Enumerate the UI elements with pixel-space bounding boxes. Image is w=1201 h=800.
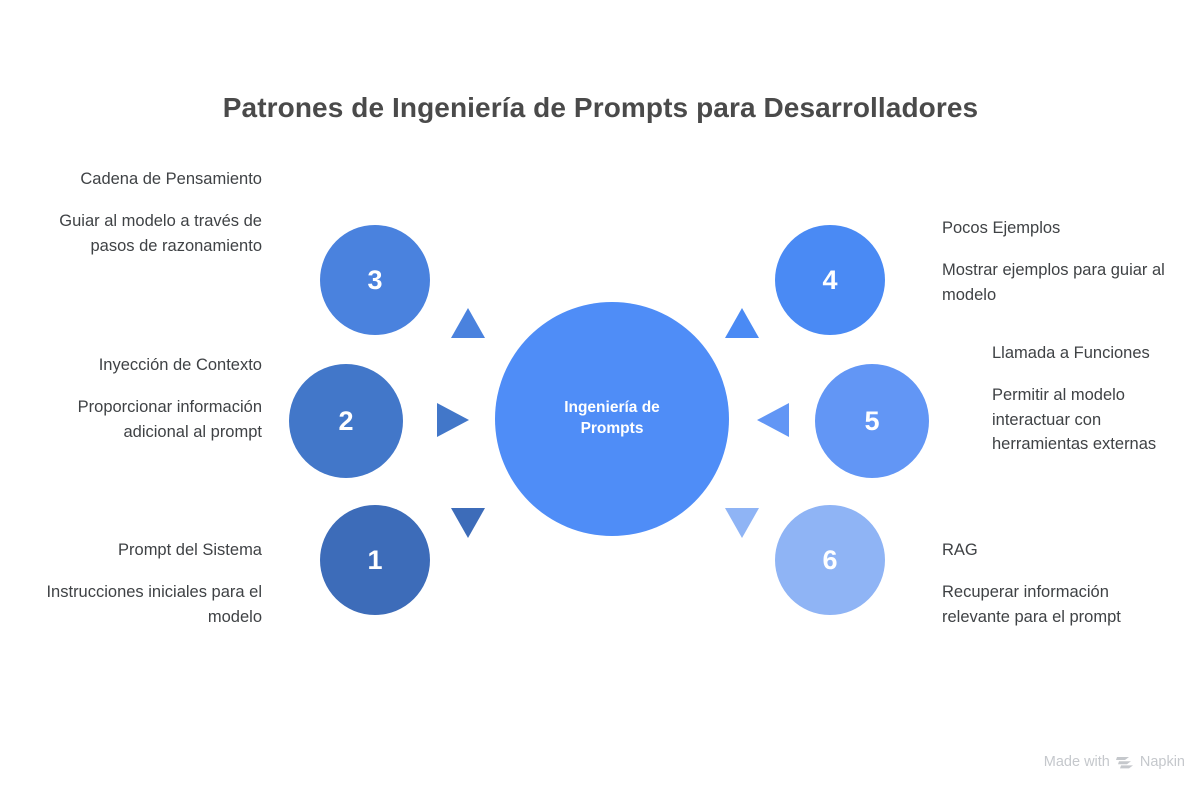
label-description: Instrucciones iniciales para el modelo <box>12 580 262 629</box>
node-number: 2 <box>338 408 353 435</box>
napkin-logo-icon <box>1116 754 1134 770</box>
label-group-llamada-a-funciones: Llamada a Funciones Permitir al modelo i… <box>992 341 1192 457</box>
node-circle-5[interactable]: 5 <box>815 364 929 478</box>
label-group-pocos-ejemplos: Pocos Ejemplos Mostrar ejemplos para gui… <box>942 216 1192 307</box>
center-label-line2: Prompts <box>581 420 644 437</box>
center-label-line1: Ingeniería de <box>564 399 660 416</box>
arrow-up-icon-node4 <box>725 308 759 338</box>
label-group-rag: RAG Recuperar información relevante para… <box>942 538 1152 629</box>
label-title: Prompt del Sistema <box>12 538 262 562</box>
arrow-down-icon-node6 <box>725 508 759 538</box>
node-circle-1[interactable]: 1 <box>320 505 430 615</box>
label-description: Recuperar información relevante para el … <box>942 580 1152 629</box>
node-number: 5 <box>864 408 879 435</box>
arrow-up-icon-node3 <box>451 308 485 338</box>
label-group-cadena-de-pensamiento: Cadena de Pensamiento Guiar al modelo a … <box>12 167 262 258</box>
label-description: Proporcionar información adicional al pr… <box>12 395 262 444</box>
label-description: Guiar al modelo a través de pasos de raz… <box>12 209 262 258</box>
node-number: 1 <box>367 547 382 574</box>
label-title: Llamada a Funciones <box>992 341 1192 365</box>
label-description: Mostrar ejemplos para guiar al modelo <box>942 258 1192 307</box>
page-title: Patrones de Ingeniería de Prompts para D… <box>0 92 1201 124</box>
node-circle-4[interactable]: 4 <box>775 225 885 335</box>
label-title: Pocos Ejemplos <box>942 216 1192 240</box>
node-number: 3 <box>367 267 382 294</box>
diagram-canvas: Patrones de Ingeniería de Prompts para D… <box>0 0 1201 800</box>
watermark-prefix: Made with <box>1044 754 1110 770</box>
node-number: 4 <box>822 267 837 294</box>
watermark-brand: Napkin <box>1140 754 1185 770</box>
arrow-left-icon-node5 <box>757 403 789 437</box>
label-description: Permitir al modelo interactuar con herra… <box>992 383 1192 456</box>
label-group-prompt-del-sistema: Prompt del Sistema Instrucciones inicial… <box>12 538 262 629</box>
arrow-down-icon-node1 <box>451 508 485 538</box>
label-title: Cadena de Pensamiento <box>12 167 262 191</box>
node-number: 6 <box>822 547 837 574</box>
node-circle-3[interactable]: 3 <box>320 225 430 335</box>
arrow-right-icon-node2 <box>437 403 469 437</box>
label-group-inyeccion-de-contexto: Inyección de Contexto Proporcionar infor… <box>12 353 262 444</box>
watermark: Made with Napkin <box>1044 754 1185 770</box>
label-title: RAG <box>942 538 1152 562</box>
label-title: Inyección de Contexto <box>12 353 262 377</box>
center-circle-ingenieria-de-prompts[interactable]: Ingeniería de Prompts <box>495 302 729 536</box>
node-circle-2[interactable]: 2 <box>289 364 403 478</box>
node-circle-6[interactable]: 6 <box>775 505 885 615</box>
